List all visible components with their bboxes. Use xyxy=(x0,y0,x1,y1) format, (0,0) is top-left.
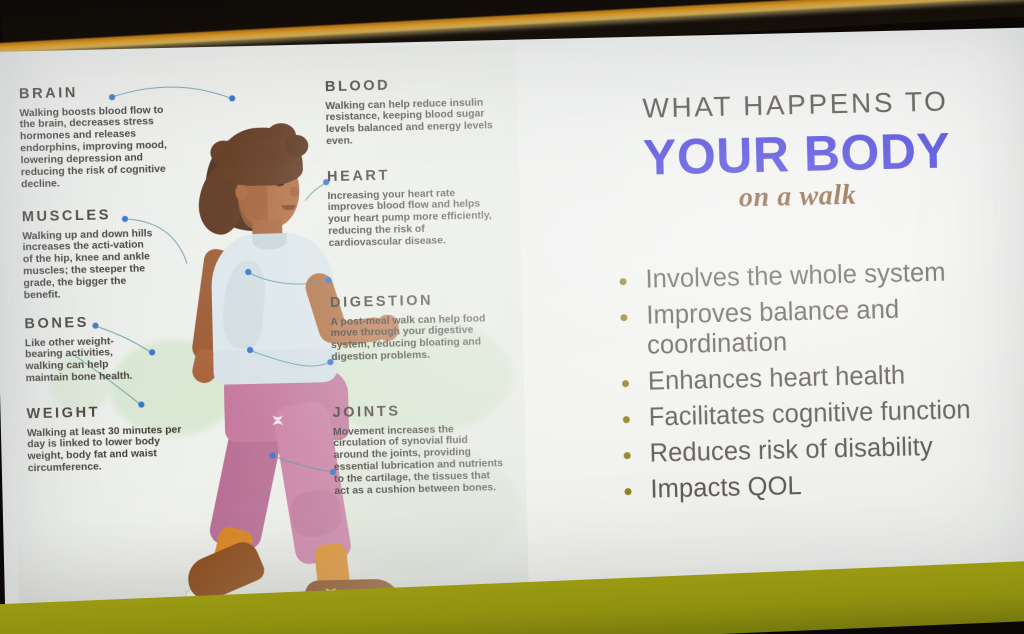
callout-bones: BONES Like other weight-bearing activiti… xyxy=(24,315,136,386)
callout-heading: MUSCLES xyxy=(22,207,154,225)
list-item-label: Involves the whole system xyxy=(645,259,946,294)
list-item-label: Reduces risk of disability xyxy=(649,433,933,468)
callout-joints: JOINTS Movement increases the circulatio… xyxy=(332,402,504,498)
nose xyxy=(290,187,298,197)
list-item-label: Impacts QOL xyxy=(650,472,802,504)
callout-heading: JOINTS xyxy=(332,402,502,421)
callout-heading: WEIGHT xyxy=(26,404,184,422)
projected-slide: BRAIN Walking boosts blood flow to the b… xyxy=(0,27,1024,611)
callout-blood: BLOOD Walking can help reduce insulin re… xyxy=(325,76,499,148)
callout-body: Like other weight-bearing activities, wa… xyxy=(25,335,136,385)
screenshot-stage: BRAIN Walking boosts blood flow to the b… xyxy=(0,0,1024,634)
callout-body: Walking boosts blood flow to the brain, … xyxy=(19,104,181,191)
callout-muscles: MUSCLES Walking up and down hills increa… xyxy=(22,207,156,302)
callout-brain: BRAIN Walking boosts blood flow to the b… xyxy=(19,84,181,192)
callout-body: A post-meal walk can help food move thro… xyxy=(330,313,489,364)
callout-heading: BRAIN xyxy=(19,84,179,102)
title-line-2: YOUR BODY xyxy=(594,124,999,184)
under-armour-logo-icon xyxy=(269,413,287,427)
bullet-dot-icon xyxy=(624,452,631,459)
callout-digestion: DIGESTION A post-meal walk can help food… xyxy=(330,292,490,364)
callout-body: Increasing your heart rate improves bloo… xyxy=(327,187,494,250)
callout-heading: DIGESTION xyxy=(330,292,488,310)
title-line-1: WHAT HAPPENS TO xyxy=(593,86,998,124)
list-item: Reduces risk of disability xyxy=(615,430,1024,470)
callout-heart: HEART Increasing your heart rate improve… xyxy=(327,166,495,250)
callout-weight: WEIGHT Walking at least 30 minutes per d… xyxy=(26,404,186,476)
callout-heading: HEART xyxy=(327,166,493,184)
bullet-dot-icon xyxy=(624,488,631,495)
anchor-dot-knee xyxy=(270,452,276,458)
callout-body: Movement increases the circulation of sy… xyxy=(333,423,505,498)
callout-heading: BLOOD xyxy=(325,76,497,95)
anchor-dot-head xyxy=(229,95,235,101)
bullet-dot-icon xyxy=(622,380,629,387)
hair-curl xyxy=(284,135,309,158)
callout-body: Walking up and down hills increases the … xyxy=(22,228,156,303)
list-item: Enhances heart health xyxy=(614,358,1024,398)
infographic-panel: BRAIN Walking boosts blood flow to the b… xyxy=(6,44,529,612)
anchor-dot-chest xyxy=(245,269,251,275)
list-item: Improves balance and coordination xyxy=(612,292,1023,362)
list-item: Impacts QOL xyxy=(616,466,1024,506)
list-item: Facilitates cognitive function xyxy=(614,394,1024,434)
list-item-label: Facilitates cognitive function xyxy=(648,396,970,432)
list-item: Involves the whole system xyxy=(611,256,1022,296)
bullet-dot-icon xyxy=(620,278,627,285)
tshirt-hem xyxy=(213,348,338,385)
list-item-label: Improves balance and coordination xyxy=(646,296,899,360)
callout-body: Walking can help reduce insulin resistan… xyxy=(325,97,498,149)
benefits-bullet-list: Involves the whole system Improves balan… xyxy=(611,256,1024,512)
callout-body: Walking at least 30 minutes per day is l… xyxy=(27,424,186,475)
callout-heading: BONES xyxy=(24,315,134,332)
bullet-dot-icon xyxy=(620,314,627,321)
bullet-dot-icon xyxy=(623,416,630,423)
list-item-label: Enhances heart health xyxy=(648,362,906,396)
slide-text-column: WHAT HAPPENS TO YOUR BODY on a walk Invo… xyxy=(592,38,1024,604)
